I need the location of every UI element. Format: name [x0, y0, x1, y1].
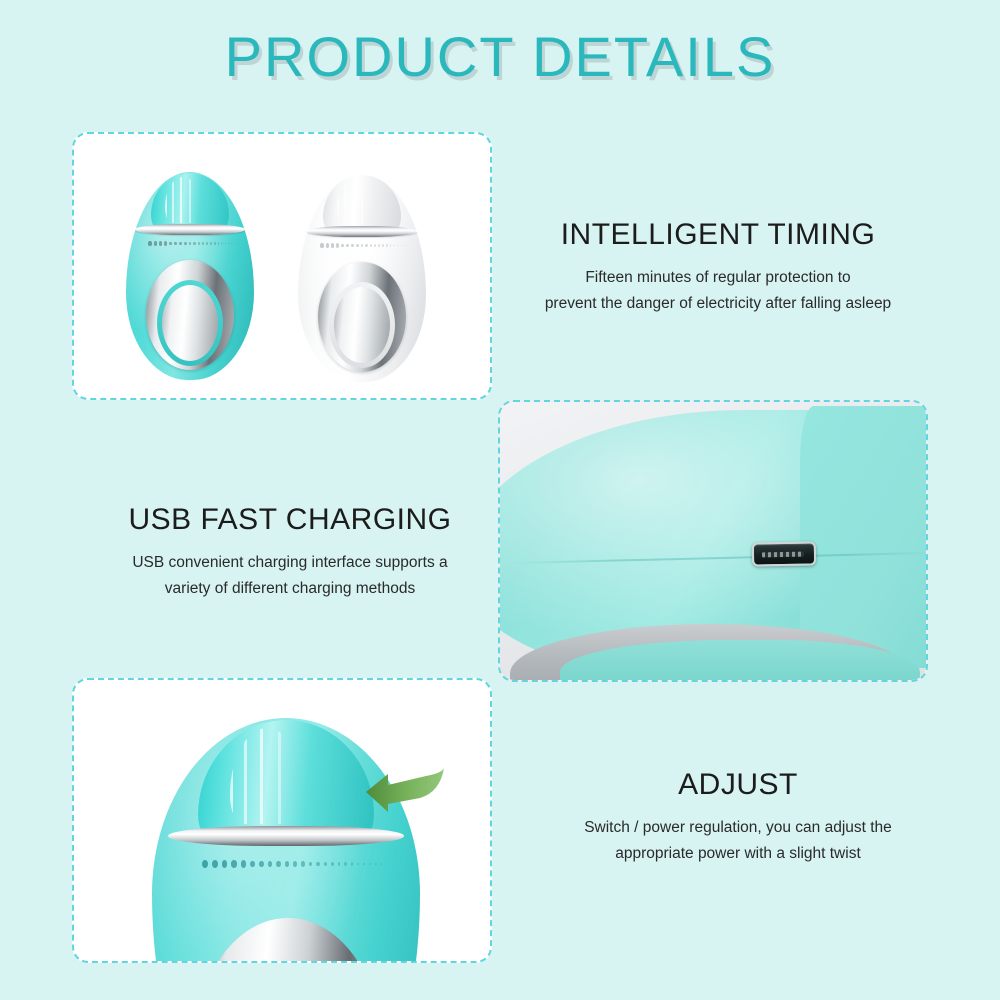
section-body-line-2: variety of different charging methods — [80, 576, 500, 602]
device-inner-chrome-oval — [162, 285, 218, 361]
section-adjust: ADJUST Switch / power regulation, you ca… — [528, 768, 948, 866]
device-shell-teal-right — [800, 406, 928, 668]
page-title: PRODUCT DETAILS — [0, 24, 1000, 89]
micro-usb-port-icon — [752, 541, 816, 566]
device-vent-dots — [320, 242, 410, 249]
section-heading: INTELLIGENT TIMING — [508, 218, 928, 251]
section-heading: ADJUST — [528, 768, 948, 801]
usb-photo-scene — [500, 402, 926, 680]
section-body-line-1: USB convenient charging interface suppor… — [80, 550, 500, 576]
section-body: Fifteen minutes of regular protection to… — [508, 265, 928, 316]
twist-adjust-photo — [72, 678, 492, 963]
section-body-line-1: Fifteen minutes of regular protection to — [508, 265, 928, 291]
device-vent-dots — [148, 240, 238, 247]
section-body-line-1: Switch / power regulation, you can adjus… — [528, 815, 948, 841]
device-vent-dots — [202, 858, 382, 870]
device-teal-closeup — [152, 718, 420, 963]
device-white — [298, 174, 426, 382]
device-chrome-band — [307, 226, 417, 237]
section-body-line-2: appropriate power with a slight twist — [528, 841, 948, 867]
device-inner-chrome-oval — [334, 287, 390, 363]
section-body: Switch / power regulation, you can adjus… — [528, 815, 948, 866]
section-usb-fast-charging: USB FAST CHARGING USB convenient chargin… — [80, 503, 500, 601]
section-body-line-2: prevent the danger of electricity after … — [508, 291, 928, 317]
section-intelligent-timing: INTELLIGENT TIMING Fifteen minutes of re… — [508, 218, 928, 316]
device-chrome-band — [168, 826, 404, 846]
two-devices-photo — [72, 132, 492, 400]
section-heading: USB FAST CHARGING — [80, 503, 500, 536]
device-chrome-band — [135, 224, 245, 235]
device-accent-ring — [220, 962, 356, 963]
device-teal — [126, 172, 254, 380]
section-body: USB convenient charging interface suppor… — [80, 550, 500, 601]
usb-port-closeup-photo — [498, 400, 928, 682]
rotate-arrow-icon — [364, 766, 446, 816]
